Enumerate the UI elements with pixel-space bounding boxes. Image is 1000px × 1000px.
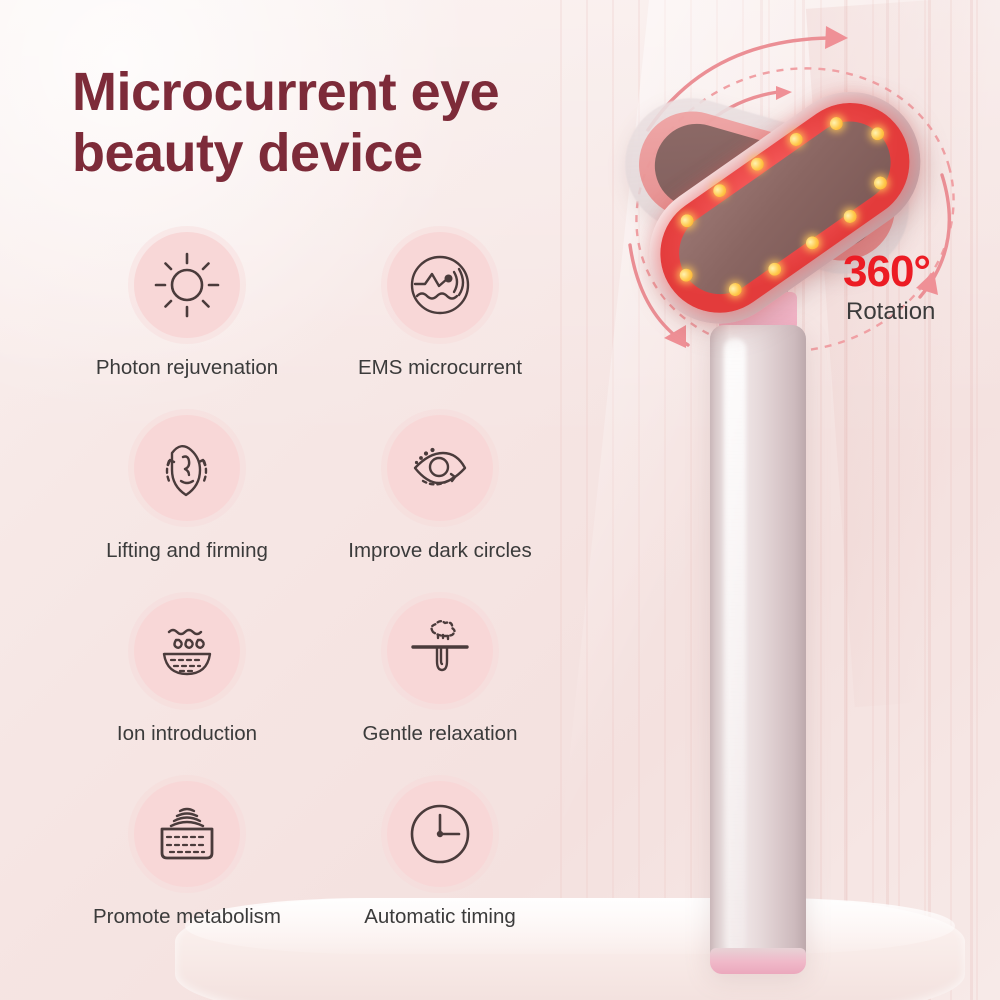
- feature-label: Promote metabolism: [93, 905, 281, 929]
- feature-icon-bubble: [387, 598, 493, 704]
- rotation-callout: 360° Rotation: [843, 250, 935, 324]
- feature-label: EMS microcurrent: [358, 356, 522, 380]
- feature-item-improve-dark-circles[interactable]: Improve dark circles: [315, 415, 565, 598]
- page-title: Microcurrent eye beauty device: [72, 62, 632, 184]
- feature-label: Photon rejuvenation: [96, 356, 278, 380]
- device-handle-sheen: [724, 338, 746, 953]
- feature-row: Photon rejuvenation EMS microcur: [62, 232, 602, 415]
- rotation-value: 360°: [843, 250, 935, 294]
- feature-icon-bubble: [134, 232, 240, 338]
- feature-icon-bubble: [134, 781, 240, 887]
- feature-item-ems-microcurrent[interactable]: EMS microcurrent: [315, 232, 565, 415]
- feature-icon-bubble: [387, 781, 493, 887]
- clock-icon: [403, 797, 477, 871]
- feature-item-promote-metabolism[interactable]: Promote metabolism: [62, 781, 312, 964]
- feature-row: Promote metabolism Automatic timing: [62, 781, 602, 964]
- feature-icon-bubble: [387, 415, 493, 521]
- feature-row: Lifting and firming: [62, 415, 602, 598]
- device-base: [710, 948, 806, 974]
- face-lifting-icon: [150, 431, 224, 505]
- feature-label: Lifting and firming: [106, 539, 268, 563]
- sun-icon: [150, 248, 224, 322]
- feature-item-automatic-timing[interactable]: Automatic timing: [315, 781, 565, 964]
- skin-waves-icon: [150, 797, 224, 871]
- feature-grid: Photon rejuvenation EMS microcur: [62, 232, 602, 964]
- feature-icon-bubble: [134, 598, 240, 704]
- feature-item-gentle-relaxation[interactable]: Gentle relaxation: [315, 598, 565, 781]
- feature-item-photon-rejuvenation[interactable]: Photon rejuvenation: [62, 232, 312, 415]
- ems-wave-icon: [403, 248, 477, 322]
- feature-item-lifting-and-firming[interactable]: Lifting and firming: [62, 415, 312, 598]
- feature-label: Ion introduction: [117, 722, 257, 746]
- feature-label: Gentle relaxation: [363, 722, 518, 746]
- feature-label: Improve dark circles: [348, 539, 531, 563]
- feature-item-ion-introduction[interactable]: Ion introduction: [62, 598, 312, 781]
- page-title-line-2: beauty device: [72, 123, 632, 184]
- pore-steam-icon: [403, 614, 477, 688]
- feature-icon-bubble: [387, 232, 493, 338]
- product-poster: Microcurrent eye beauty device Photon re…: [0, 0, 1000, 1000]
- eye-icon: [403, 431, 477, 505]
- product-image: [600, 20, 1000, 1000]
- feature-label: Automatic timing: [364, 905, 516, 929]
- feature-icon-bubble: [134, 415, 240, 521]
- feature-row: Ion introduction Gentle relaxa: [62, 598, 602, 781]
- page-title-line-1: Microcurrent eye: [72, 62, 499, 122]
- rotation-caption: Rotation: [843, 300, 935, 324]
- ion-bowl-icon: [150, 614, 224, 688]
